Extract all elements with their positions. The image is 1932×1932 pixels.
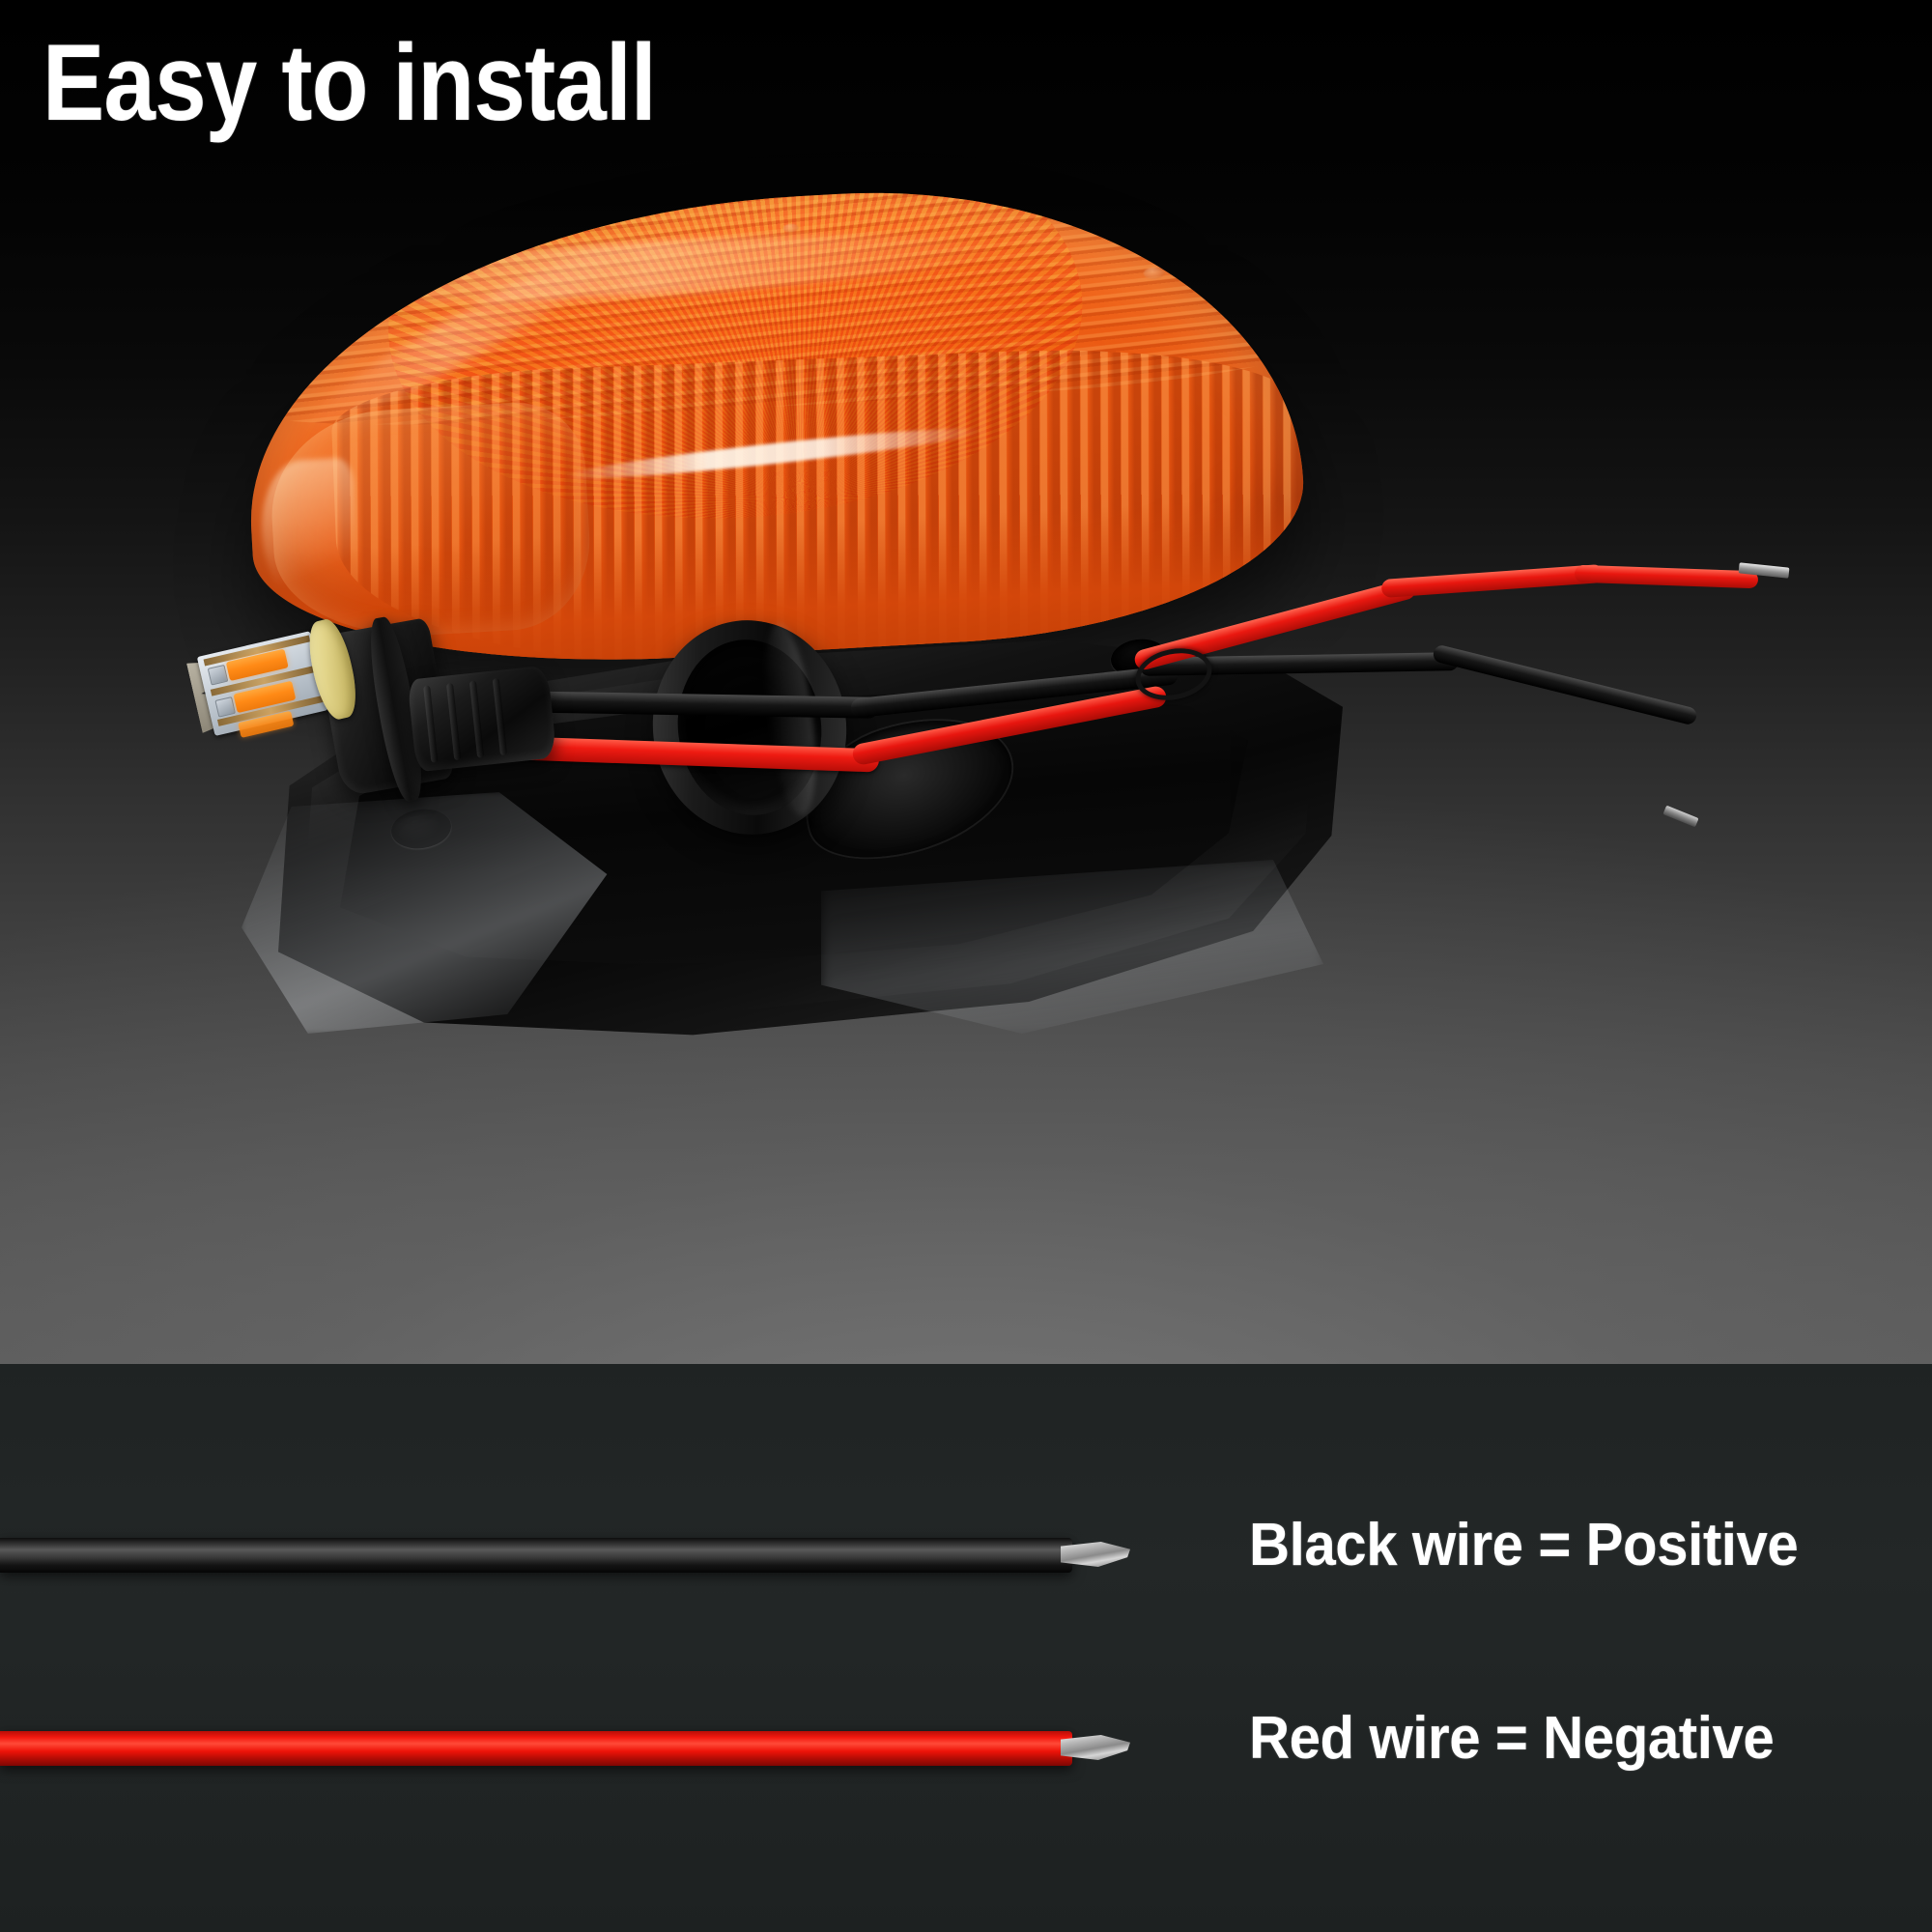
red-wire (1575, 565, 1759, 589)
legend-row-red-wire: Red wire = Negative (0, 1710, 1932, 1797)
lens-body (235, 169, 1312, 681)
lens-left-facet (267, 399, 595, 643)
connector-block (407, 666, 556, 773)
legend-row-black-wire: Black wire = Positive (0, 1517, 1932, 1604)
red-wire-stripped-tip (1061, 1735, 1130, 1760)
black-wire-label: Black wire = Positive (1249, 1511, 1798, 1579)
black-wire-sample (0, 1538, 1072, 1573)
product-infographic: Easy to install (0, 0, 1932, 1932)
black-wire-stripped-tip (1061, 1542, 1130, 1567)
connector-ridge (469, 680, 484, 757)
wire-legend-panel: Black wire = Positive Red wire = Negativ… (0, 1364, 1932, 1932)
connector-ridge (446, 683, 461, 760)
top-panel: Easy to install (0, 0, 1932, 1364)
led-solder-pad (214, 696, 236, 718)
base-wire-collar (640, 610, 859, 846)
amber-lens-cover (246, 198, 1299, 652)
red-wire (1381, 564, 1605, 598)
black-wire (1432, 643, 1698, 725)
red-wire-sample (0, 1731, 1072, 1766)
page-title: Easy to install (43, 23, 656, 142)
led-pcb (197, 631, 328, 736)
black-wire-stripped-tip (1662, 806, 1698, 828)
connector-ridge (423, 685, 438, 762)
connector-ridge (493, 678, 507, 755)
red-wire-label: Red wire = Negative (1249, 1704, 1774, 1773)
led-solder-pad (208, 665, 229, 686)
